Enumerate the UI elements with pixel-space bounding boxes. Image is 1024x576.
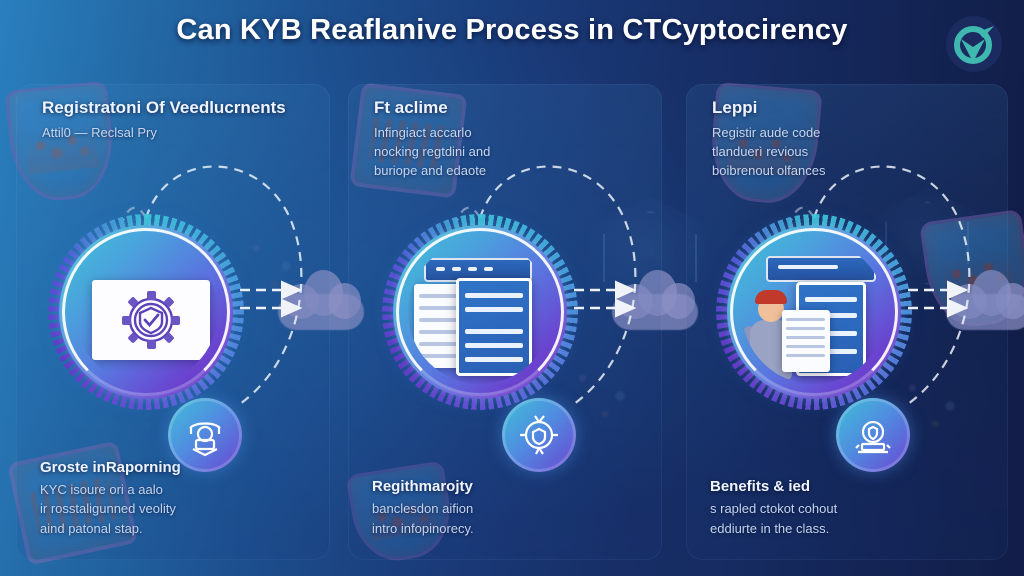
shield-network-icon[interactable] bbox=[502, 398, 576, 472]
footer-line: aind patonal stap. bbox=[40, 519, 314, 539]
verified-laptop-icon[interactable] bbox=[836, 398, 910, 472]
subtitle-line: buriope and edaote bbox=[374, 162, 644, 181]
footer-line: intro infopinorecy. bbox=[372, 519, 646, 539]
footer-body: KYC isoure ori a aalo ir rosstaligunned … bbox=[40, 480, 314, 539]
page-title: Can KYB Reaflanive Process in CTCyptocir… bbox=[0, 14, 1024, 47]
node-artwork bbox=[74, 240, 218, 384]
panel-header: Ft aclime Infingiact accarlo nocking reg… bbox=[374, 98, 644, 181]
panel-title: Registratoni Of Veedlucrnents bbox=[42, 98, 312, 118]
footer-line: ir rosstaligunned veolity bbox=[40, 499, 314, 519]
node-artwork bbox=[408, 240, 552, 384]
node-legal[interactable] bbox=[716, 214, 912, 410]
analytics-badge-icon[interactable] bbox=[168, 398, 242, 472]
panel-header: Registratoni Of Veedlucrnents Attil0 — R… bbox=[42, 98, 312, 143]
node-registration[interactable] bbox=[48, 214, 244, 410]
subtitle-line: nocking regtdini and bbox=[374, 143, 644, 162]
footer-line: eddiurte in the class. bbox=[710, 519, 992, 539]
panel-footer: Groste inRaporning KYC isoure ori a aalo… bbox=[40, 459, 314, 539]
panel-subtitle: Infingiact accarlo nocking regtdini and … bbox=[374, 124, 644, 181]
panel-footer: Regithmarojty banclesdon aifion intro in… bbox=[372, 478, 646, 538]
panel-subtitle: Registir aude code tlanduerì revious boi… bbox=[712, 124, 990, 181]
subtitle-line: tlanduerì revious bbox=[712, 143, 990, 162]
brand-logo bbox=[946, 16, 1002, 72]
form-document bbox=[456, 278, 532, 376]
panel-header: Leppi Registir aude code tlanduerì revio… bbox=[712, 98, 990, 181]
node-compliance[interactable] bbox=[382, 214, 578, 410]
footer-line: KYC isoure ori a aalo bbox=[40, 480, 314, 500]
footer-line: banclesdon aifion bbox=[372, 499, 646, 519]
footer-line: s rapled ctokot cohout bbox=[710, 499, 992, 519]
paper-document bbox=[782, 310, 830, 372]
subtitle-line: Attil0 — Reclsal Pry bbox=[42, 124, 312, 143]
subtitle-line: Infingiact accarlo bbox=[374, 124, 644, 143]
subtitle-line: boibrenout olfances bbox=[712, 162, 990, 181]
panel-subtitle: Attil0 — Reclsal Pry bbox=[42, 124, 312, 143]
gear-shield-icon bbox=[92, 280, 210, 360]
footer-title: Benefits & ied bbox=[710, 478, 992, 495]
panel-title: Leppi bbox=[712, 98, 990, 118]
infographic-canvas: Can KYB Reaflanive Process in CTCyptocir… bbox=[0, 0, 1024, 576]
footer-title: Regithmarojty bbox=[372, 478, 646, 495]
panel-footer: Benefits & ied s rapled ctokot cohout ed… bbox=[710, 478, 992, 538]
panel-title: Ft aclime bbox=[374, 98, 644, 118]
subtitle-line: Registir aude code bbox=[712, 124, 990, 143]
footer-body: s rapled ctokot cohout eddiurte in the c… bbox=[710, 499, 992, 538]
node-artwork bbox=[742, 240, 886, 384]
window-bar bbox=[766, 256, 876, 282]
footer-title: Groste inRaporning bbox=[40, 459, 314, 476]
footer-body: banclesdon aifion intro infopinorecy. bbox=[372, 499, 646, 538]
